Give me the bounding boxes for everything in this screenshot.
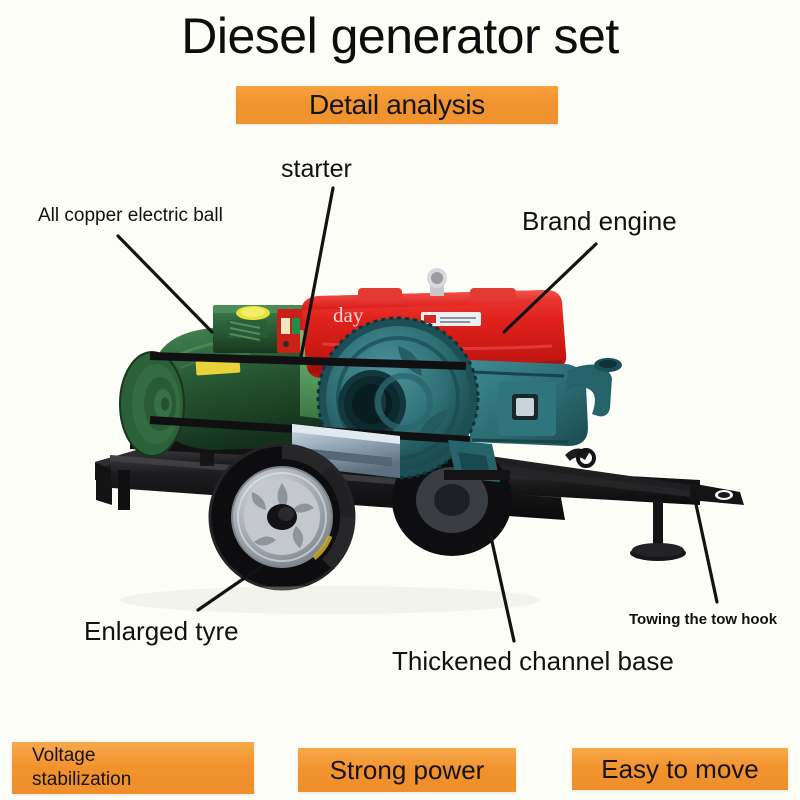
engine-brand-text: day <box>333 303 364 327</box>
feature-badge-easy-to-move: Easy to move <box>572 748 788 790</box>
product-detail-poster: Diesel generator set Detail analysis <box>0 0 800 800</box>
product-illustration: day <box>0 0 800 800</box>
feature-badge-easy-to-move-label: Easy to move <box>601 754 759 785</box>
feature-badge-strong-power-label: Strong power <box>330 755 485 786</box>
callout-starter: starter <box>281 155 352 184</box>
callout-all-copper-electric-ball: All copper electric ball <box>38 205 223 227</box>
callout-towing-the-tow-hook: Towing the tow hook <box>629 611 777 628</box>
feature-badge-voltage-line1: Voltage <box>32 744 131 768</box>
callout-thickened-channel-base: Thickened channel base <box>392 646 674 677</box>
feature-badge-voltage-text: Voltage stabilization <box>32 744 131 792</box>
feature-badge-strong-power: Strong power <box>298 748 516 792</box>
enlarged-tyre-wheel <box>210 445 354 589</box>
callout-brand-engine: Brand engine <box>522 206 677 237</box>
callout-enlarged-tyre: Enlarged tyre <box>84 616 239 647</box>
feature-badge-voltage-stabilization: Voltage stabilization <box>12 742 254 794</box>
feature-badge-voltage-line2: stabilization <box>32 768 131 792</box>
jack-stand-post <box>653 500 663 550</box>
